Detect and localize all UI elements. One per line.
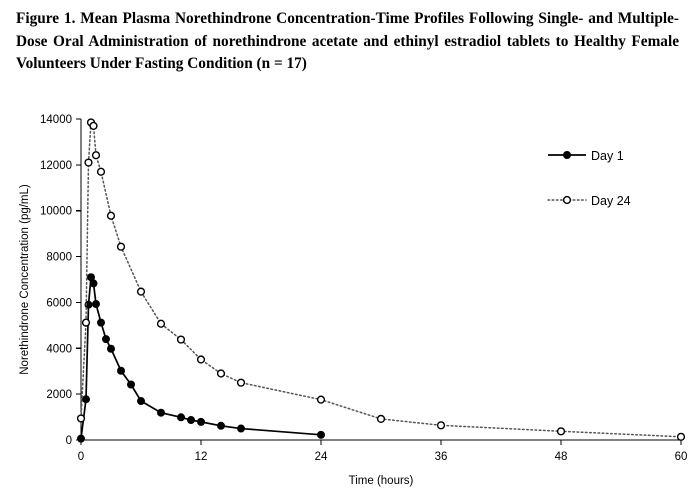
data-point bbox=[138, 288, 145, 295]
data-point bbox=[198, 356, 205, 363]
legend-item-day-1[interactable]: Day 1 bbox=[548, 149, 624, 163]
legend-item-day-24[interactable]: Day 24 bbox=[548, 194, 631, 208]
x-tick-label-60: 60 bbox=[675, 451, 688, 463]
y-tick-label-10000: 10000 bbox=[40, 206, 72, 218]
data-point bbox=[198, 418, 205, 425]
data-point bbox=[378, 416, 385, 423]
data-point bbox=[158, 320, 165, 327]
y-axis-title: Norethindrone Concentration (pg/mL) bbox=[19, 184, 31, 375]
data-point bbox=[128, 381, 135, 388]
data-point bbox=[108, 212, 115, 219]
legend-marker-0 bbox=[564, 152, 571, 159]
data-point bbox=[98, 168, 105, 175]
y-tick-label-4000: 4000 bbox=[46, 343, 72, 355]
legend-marker-1 bbox=[564, 197, 571, 204]
data-point bbox=[93, 301, 100, 308]
data-point bbox=[108, 345, 115, 352]
data-point bbox=[238, 379, 245, 386]
data-point bbox=[103, 336, 110, 343]
series-day-24 bbox=[78, 119, 685, 440]
data-point bbox=[90, 280, 97, 287]
data-point bbox=[85, 159, 92, 166]
figure-caption: Figure 1. Mean Plasma Norethindrone Conc… bbox=[16, 8, 679, 76]
data-point bbox=[678, 433, 685, 440]
x-axis-title: Time (hours) bbox=[349, 475, 414, 487]
data-point bbox=[78, 415, 85, 422]
x-tick-label-0: 0 bbox=[78, 451, 84, 463]
y-tick-label-0: 0 bbox=[66, 435, 72, 447]
data-point bbox=[188, 417, 195, 424]
data-point bbox=[558, 428, 565, 435]
data-point bbox=[93, 152, 100, 159]
legend-label-0: Day 1 bbox=[591, 149, 624, 163]
data-point bbox=[438, 422, 445, 429]
y-tick-label-2000: 2000 bbox=[46, 389, 72, 401]
data-point bbox=[83, 319, 90, 326]
data-point bbox=[218, 370, 225, 377]
y-tick-label-6000: 6000 bbox=[46, 297, 72, 309]
y-tick-label-8000: 8000 bbox=[46, 252, 72, 264]
data-point bbox=[218, 422, 225, 429]
data-point bbox=[78, 435, 85, 442]
data-point bbox=[118, 367, 125, 374]
series-line-1 bbox=[81, 122, 681, 436]
data-point bbox=[238, 425, 245, 432]
x-tick-label-36: 36 bbox=[435, 451, 448, 463]
data-point bbox=[90, 122, 97, 129]
data-point bbox=[178, 336, 185, 343]
data-point bbox=[118, 243, 125, 250]
data-point bbox=[158, 409, 165, 416]
chart-svg: 0200040006000800010000120001400001224364… bbox=[0, 106, 695, 503]
data-point bbox=[138, 398, 145, 405]
legend-label-1: Day 24 bbox=[591, 194, 631, 208]
y-tick-label-12000: 12000 bbox=[40, 160, 72, 172]
data-point bbox=[83, 396, 90, 403]
data-point bbox=[318, 431, 325, 438]
chart-plot-area: 0200040006000800010000120001400001224364… bbox=[0, 106, 695, 503]
data-point bbox=[178, 414, 185, 421]
x-tick-label-24: 24 bbox=[315, 451, 328, 463]
x-tick-label-48: 48 bbox=[555, 451, 568, 463]
data-point bbox=[318, 396, 325, 403]
x-tick-label-12: 12 bbox=[195, 451, 208, 463]
y-tick-label-14000: 14000 bbox=[40, 114, 72, 126]
data-point bbox=[98, 319, 105, 326]
